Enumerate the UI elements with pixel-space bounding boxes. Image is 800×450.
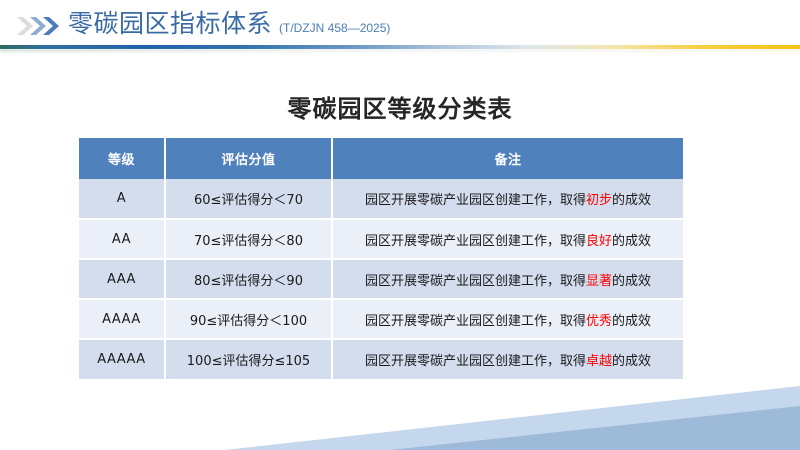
note-text-prefix: 园区开展零碳产业园区创建工作，取得	[365, 234, 586, 249]
column-header-score: 评估分值	[165, 138, 332, 179]
table-header-row: 等级 评估分值 备注	[79, 138, 683, 179]
note-text-suffix: 的成效	[612, 234, 651, 249]
note-highlight: 初步	[586, 193, 612, 208]
note-text-suffix: 的成效	[612, 193, 651, 208]
note-text-prefix: 园区开展零碳产业园区创建工作，取得	[365, 354, 586, 369]
note-text-suffix: 的成效	[612, 354, 651, 369]
cell-grade: A	[79, 179, 165, 219]
header-title-block: 零碳园区指标体系 (T/DZJN 458—2025)	[68, 8, 390, 40]
table-row: AA 70≤评估得分＜80 园区开展零碳产业园区创建工作，取得良好的成效	[79, 219, 683, 259]
note-text-prefix: 园区开展零碳产业园区创建工作，取得	[365, 274, 586, 289]
note-text-prefix: 园区开展零碳产业园区创建工作，取得	[365, 314, 586, 329]
column-header-note: 备注	[332, 138, 683, 179]
note-highlight: 显著	[586, 274, 612, 289]
cell-note: 园区开展零碳产业园区创建工作，取得卓越的成效	[332, 339, 683, 379]
cell-note: 园区开展零碳产业园区创建工作，取得优秀的成效	[332, 299, 683, 339]
cell-score: 90≤评估得分＜100	[165, 299, 332, 339]
cell-grade: AAAAA	[79, 339, 165, 379]
table-row: AAAAA 100≤评估得分≤105 园区开展零碳产业园区创建工作，取得卓越的成…	[79, 339, 683, 379]
slide-header: 零碳园区指标体系 (T/DZJN 458—2025)	[0, 0, 800, 52]
column-header-grade: 等级	[79, 138, 165, 179]
table-row: AAAA 90≤评估得分＜100 园区开展零碳产业园区创建工作，取得优秀的成效	[79, 299, 683, 339]
cell-score: 60≤评估得分＜70	[165, 179, 332, 219]
note-highlight: 优秀	[586, 314, 612, 329]
chevron-right-icon	[42, 15, 64, 37]
table-title: 零碳园区等级分类表	[0, 89, 800, 124]
page-title-standard-code: (T/DZJN 458—2025)	[279, 21, 390, 35]
header-divider-shadow	[0, 49, 800, 52]
note-highlight: 良好	[586, 234, 612, 249]
chevron-group	[16, 15, 68, 37]
slide-root: 零碳园区指标体系 (T/DZJN 458—2025) 零碳园区等级分类表 等级 …	[0, 0, 800, 450]
grade-table-container: 等级 评估分值 备注 A 60≤评估得分＜70 园区开展零碳产业园区创建工作，取…	[79, 138, 683, 379]
deco-band-light	[225, 386, 800, 450]
deco-band-dark	[390, 406, 800, 450]
cell-score: 70≤评估得分＜80	[165, 219, 332, 259]
note-highlight: 卓越	[586, 354, 612, 369]
note-text-suffix: 的成效	[612, 274, 651, 289]
cell-note: 园区开展零碳产业园区创建工作，取得显著的成效	[332, 259, 683, 299]
cell-note: 园区开展零碳产业园区创建工作，取得初步的成效	[332, 179, 683, 219]
table-row: A 60≤评估得分＜70 园区开展零碳产业园区创建工作，取得初步的成效	[79, 179, 683, 219]
cell-note: 园区开展零碳产业园区创建工作，取得良好的成效	[332, 219, 683, 259]
cell-grade: AA	[79, 219, 165, 259]
page-title: 零碳园区指标体系	[68, 8, 272, 40]
note-text-suffix: 的成效	[612, 314, 651, 329]
cell-grade: AAAA	[79, 299, 165, 339]
grade-classification-table: 等级 评估分值 备注 A 60≤评估得分＜70 园区开展零碳产业园区创建工作，取…	[79, 138, 683, 379]
cell-score: 100≤评估得分≤105	[165, 339, 332, 379]
note-text-prefix: 园区开展零碳产业园区创建工作，取得	[365, 193, 586, 208]
table-row: AAA 80≤评估得分＜90 园区开展零碳产业园区创建工作，取得显著的成效	[79, 259, 683, 299]
bottom-decoration	[0, 380, 800, 450]
cell-grade: AAA	[79, 259, 165, 299]
cell-score: 80≤评估得分＜90	[165, 259, 332, 299]
